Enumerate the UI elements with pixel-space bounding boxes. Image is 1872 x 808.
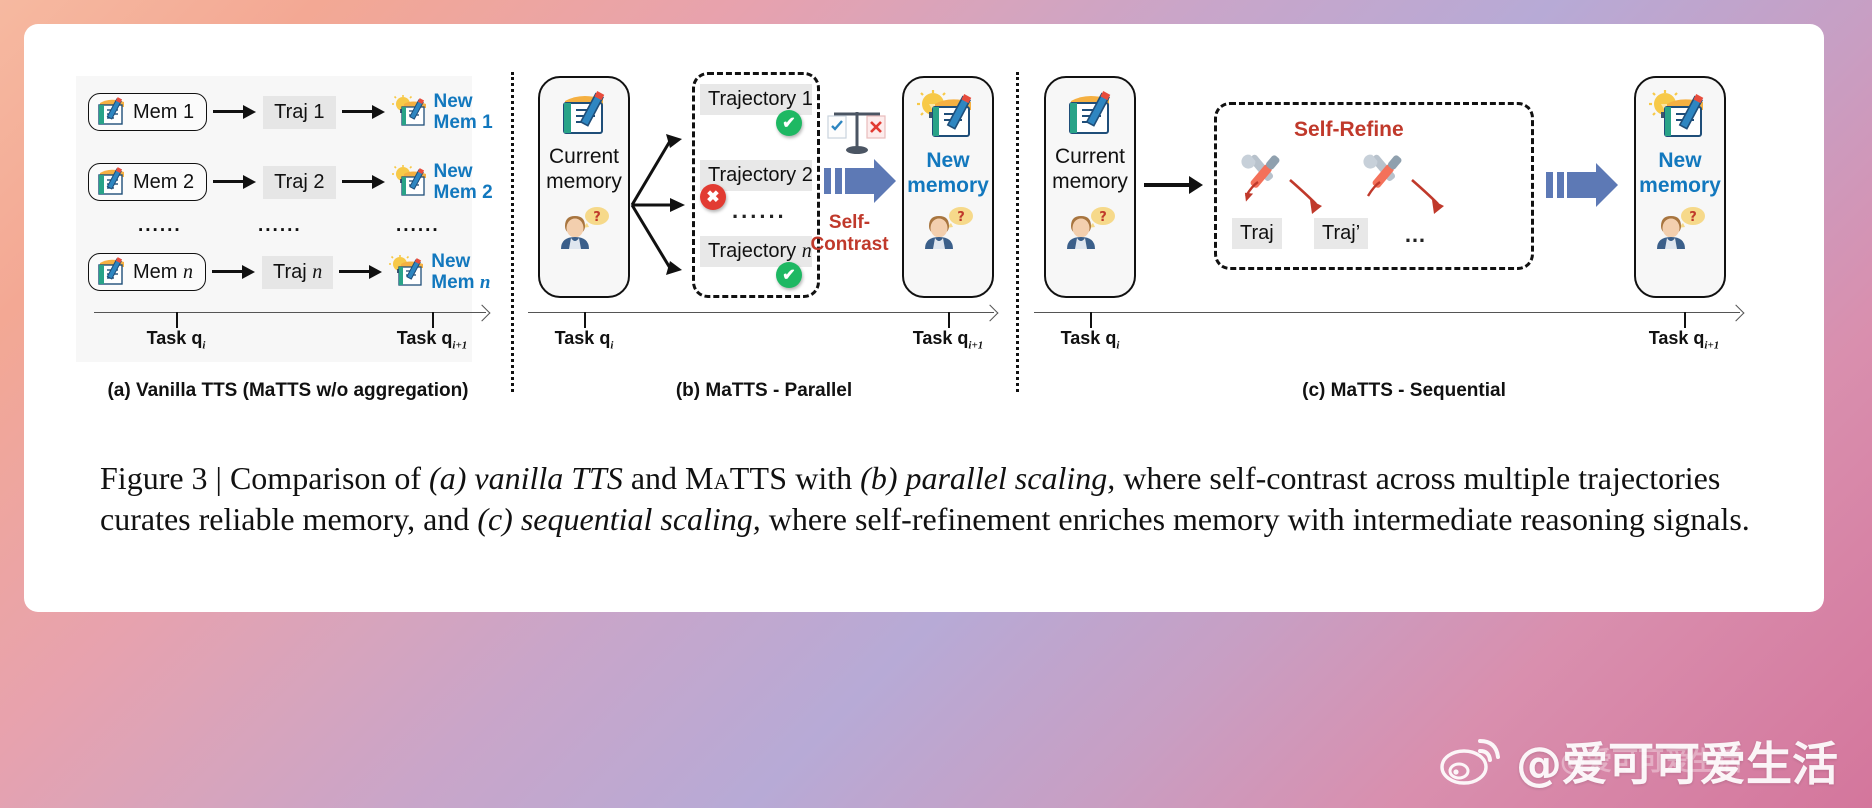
vanilla-row-1: Mem 1 Traj 1 [88,90,493,134]
memory-label-n: Mem n [133,261,193,284]
arrow-body [845,168,875,194]
timeline-tick-end [948,312,950,328]
memory-pill-n: Mem n [88,253,206,291]
trajectory-ellipsis: ...... [732,198,787,224]
panel-matts-sequential: Currentmemory ? Self-Refine [1024,50,1784,420]
balance-scale-icon [826,102,888,162]
timeline-label-end: Task qi+1 [1649,328,1720,352]
timeline-label-start: Task qi [555,328,614,352]
caption-mid-2: with [787,460,860,496]
panel-a-caption: (a) Vanilla TTS (MaTTS w/o aggregation) [76,380,500,402]
arrow-traj-to-newmem-n [339,265,383,279]
svg-text:?: ? [593,210,601,225]
timeline-axis [94,312,486,313]
memory-note-icon [94,97,128,127]
arrow-bars [1546,172,1564,198]
timeline-tick-end [1684,312,1686,328]
self-contrast-arrow: Self-Contrast [824,168,875,194]
new-memory-label-b: Newmemory [907,148,989,198]
memory-pill-1: Mem 1 [88,93,207,131]
arrow-mem-to-traj-1 [213,105,257,119]
svg-text:?: ? [957,210,965,225]
ellipsis-mem: ...... [138,215,182,237]
timeline-label-end: Task qi+1 [913,328,984,352]
thinking-person-icon: ? [921,204,975,250]
memory-note-icon [1061,90,1119,138]
current-memory-box-c: Currentmemory ? [1044,76,1136,298]
ellipsis-traj: ...... [258,215,302,237]
timeline-a: Task qi Task qi+1 [94,312,490,352]
timeline-tick-start [584,312,586,328]
arrow-mem-to-traj-2 [213,175,257,189]
fan-arrows-b [630,105,690,305]
trajectory-chip-n: Trajectory n [700,236,812,267]
arrow-body [1567,172,1597,198]
thinking-person-icon: ? [1063,204,1117,250]
new-memory-box-c: Newmemory ? [1634,76,1726,298]
self-refine-title: Self-Refine [1294,118,1404,142]
figure-caption: Figure 3 | Comparison of (a) vanilla TTS… [100,458,1750,540]
current-memory-box-b: Currentmemory ? [538,76,630,298]
timeline-label-end: Task qi+1 [397,328,468,352]
memory-note-icon [94,257,128,287]
watermark-handle: @爱可可爱生活 [1516,728,1838,794]
svg-text:?: ? [1099,210,1107,225]
vanilla-row-2: Mem 2 Traj 2 [88,160,493,204]
new-memory-box-b: Newmemory ? [902,76,994,298]
memory-note-icon [555,90,613,138]
panel-matts-parallel: Currentmemory ? [524,50,1004,420]
timeline-tick-start [176,312,178,328]
panel-divider-1 [511,72,514,392]
vanilla-row-n: Mem n Traj n [88,250,490,294]
caption-italic-c: (c) sequential scaling, [477,501,760,537]
timeline-tick-start [1090,312,1092,328]
caption-mid-1: and [623,460,685,496]
trajectory-status-ok-n: ✔ [776,262,802,288]
new-memory-bulb-icon [392,165,430,199]
caption-mid-4: where self-refinement enriches memory wi… [761,501,1750,537]
caption-italic-a: (a) vanilla TTS [429,460,623,496]
timeline-c: Task qi Task qi+1 [1034,312,1744,352]
arrow-traj-to-newmem-2 [342,175,386,189]
panel-divider-2 [1016,72,1019,392]
current-memory-label-c: Currentmemory [1052,144,1128,194]
new-memory-label-1: NewMem 1 [434,91,493,133]
traj-chip-2: Traj 2 [263,166,335,199]
trajectory-status-bad-2: ✖ [700,184,726,210]
thinking-person-icon: ? [1653,204,1707,250]
ellipsis-newmem: ...... [396,215,440,237]
memory-pill-2: Mem 2 [88,163,207,201]
refine-ellipsis: … [1404,222,1429,248]
figure-card: Mem 1 Traj 1 [24,24,1824,612]
timeline-axis [1034,312,1740,313]
panel-b-caption: (b) MaTTS - Parallel [524,380,1004,402]
new-memory-bulb-icon [1649,90,1711,142]
timeline-label-start: Task qi [1061,328,1120,352]
trajectory-status-ok-1: ✔ [776,110,802,136]
traj-chip-1: Traj 1 [263,96,335,129]
thinking-person-icon: ? [557,204,611,250]
new-memory-label-2: NewMem 2 [434,161,493,203]
caption-prefix: Figure 3 | Comparison of [100,460,429,496]
figure-diagram: Mem 1 Traj 1 [24,24,1824,424]
watermark: @爱可可爱生活 [1440,728,1838,794]
timeline-label-start: Task qi [147,328,206,352]
arrow-traj-to-newmem-1 [342,105,386,119]
arrow-mem-to-traj-n [212,265,256,279]
new-memory-label-n: NewMem n [431,251,490,293]
refine-output-arrow [1546,172,1597,198]
memory-label-2: Mem 2 [133,171,194,194]
svg-text:?: ? [1689,210,1697,225]
new-memory-bulb-icon [917,90,979,142]
arrow-memory-to-refine [1144,183,1190,187]
caption-italic-b: (b) parallel scaling, [860,460,1115,496]
panel-c-caption: (c) MaTTS - Sequential [1024,380,1784,402]
new-memory-label-c: Newmemory [1639,148,1721,198]
new-memory-bulb-icon [392,95,430,129]
memory-label-1: Mem 1 [133,101,194,124]
current-memory-label-b: Currentmemory [546,144,622,194]
weibo-logo-icon [1440,735,1504,787]
timeline-tick-end [432,312,434,328]
timeline-axis [528,312,994,313]
timeline-b: Task qi Task qi+1 [528,312,998,352]
memory-note-icon [94,167,128,197]
caption-matts: MaTTS [685,460,787,496]
trajectory-chip-1: Trajectory 1 [700,84,812,115]
new-memory-bulb-icon [389,255,427,289]
refine-step-chip-2: Traj’ [1314,218,1368,249]
panel-vanilla-tts: Mem 1 Traj 1 [76,50,500,420]
traj-chip-n: Traj n [262,256,333,289]
self-contrast-label: Self-Contrast [810,212,888,256]
arrow-bars [824,168,842,194]
refine-step-chip-1: Traj [1232,218,1282,249]
